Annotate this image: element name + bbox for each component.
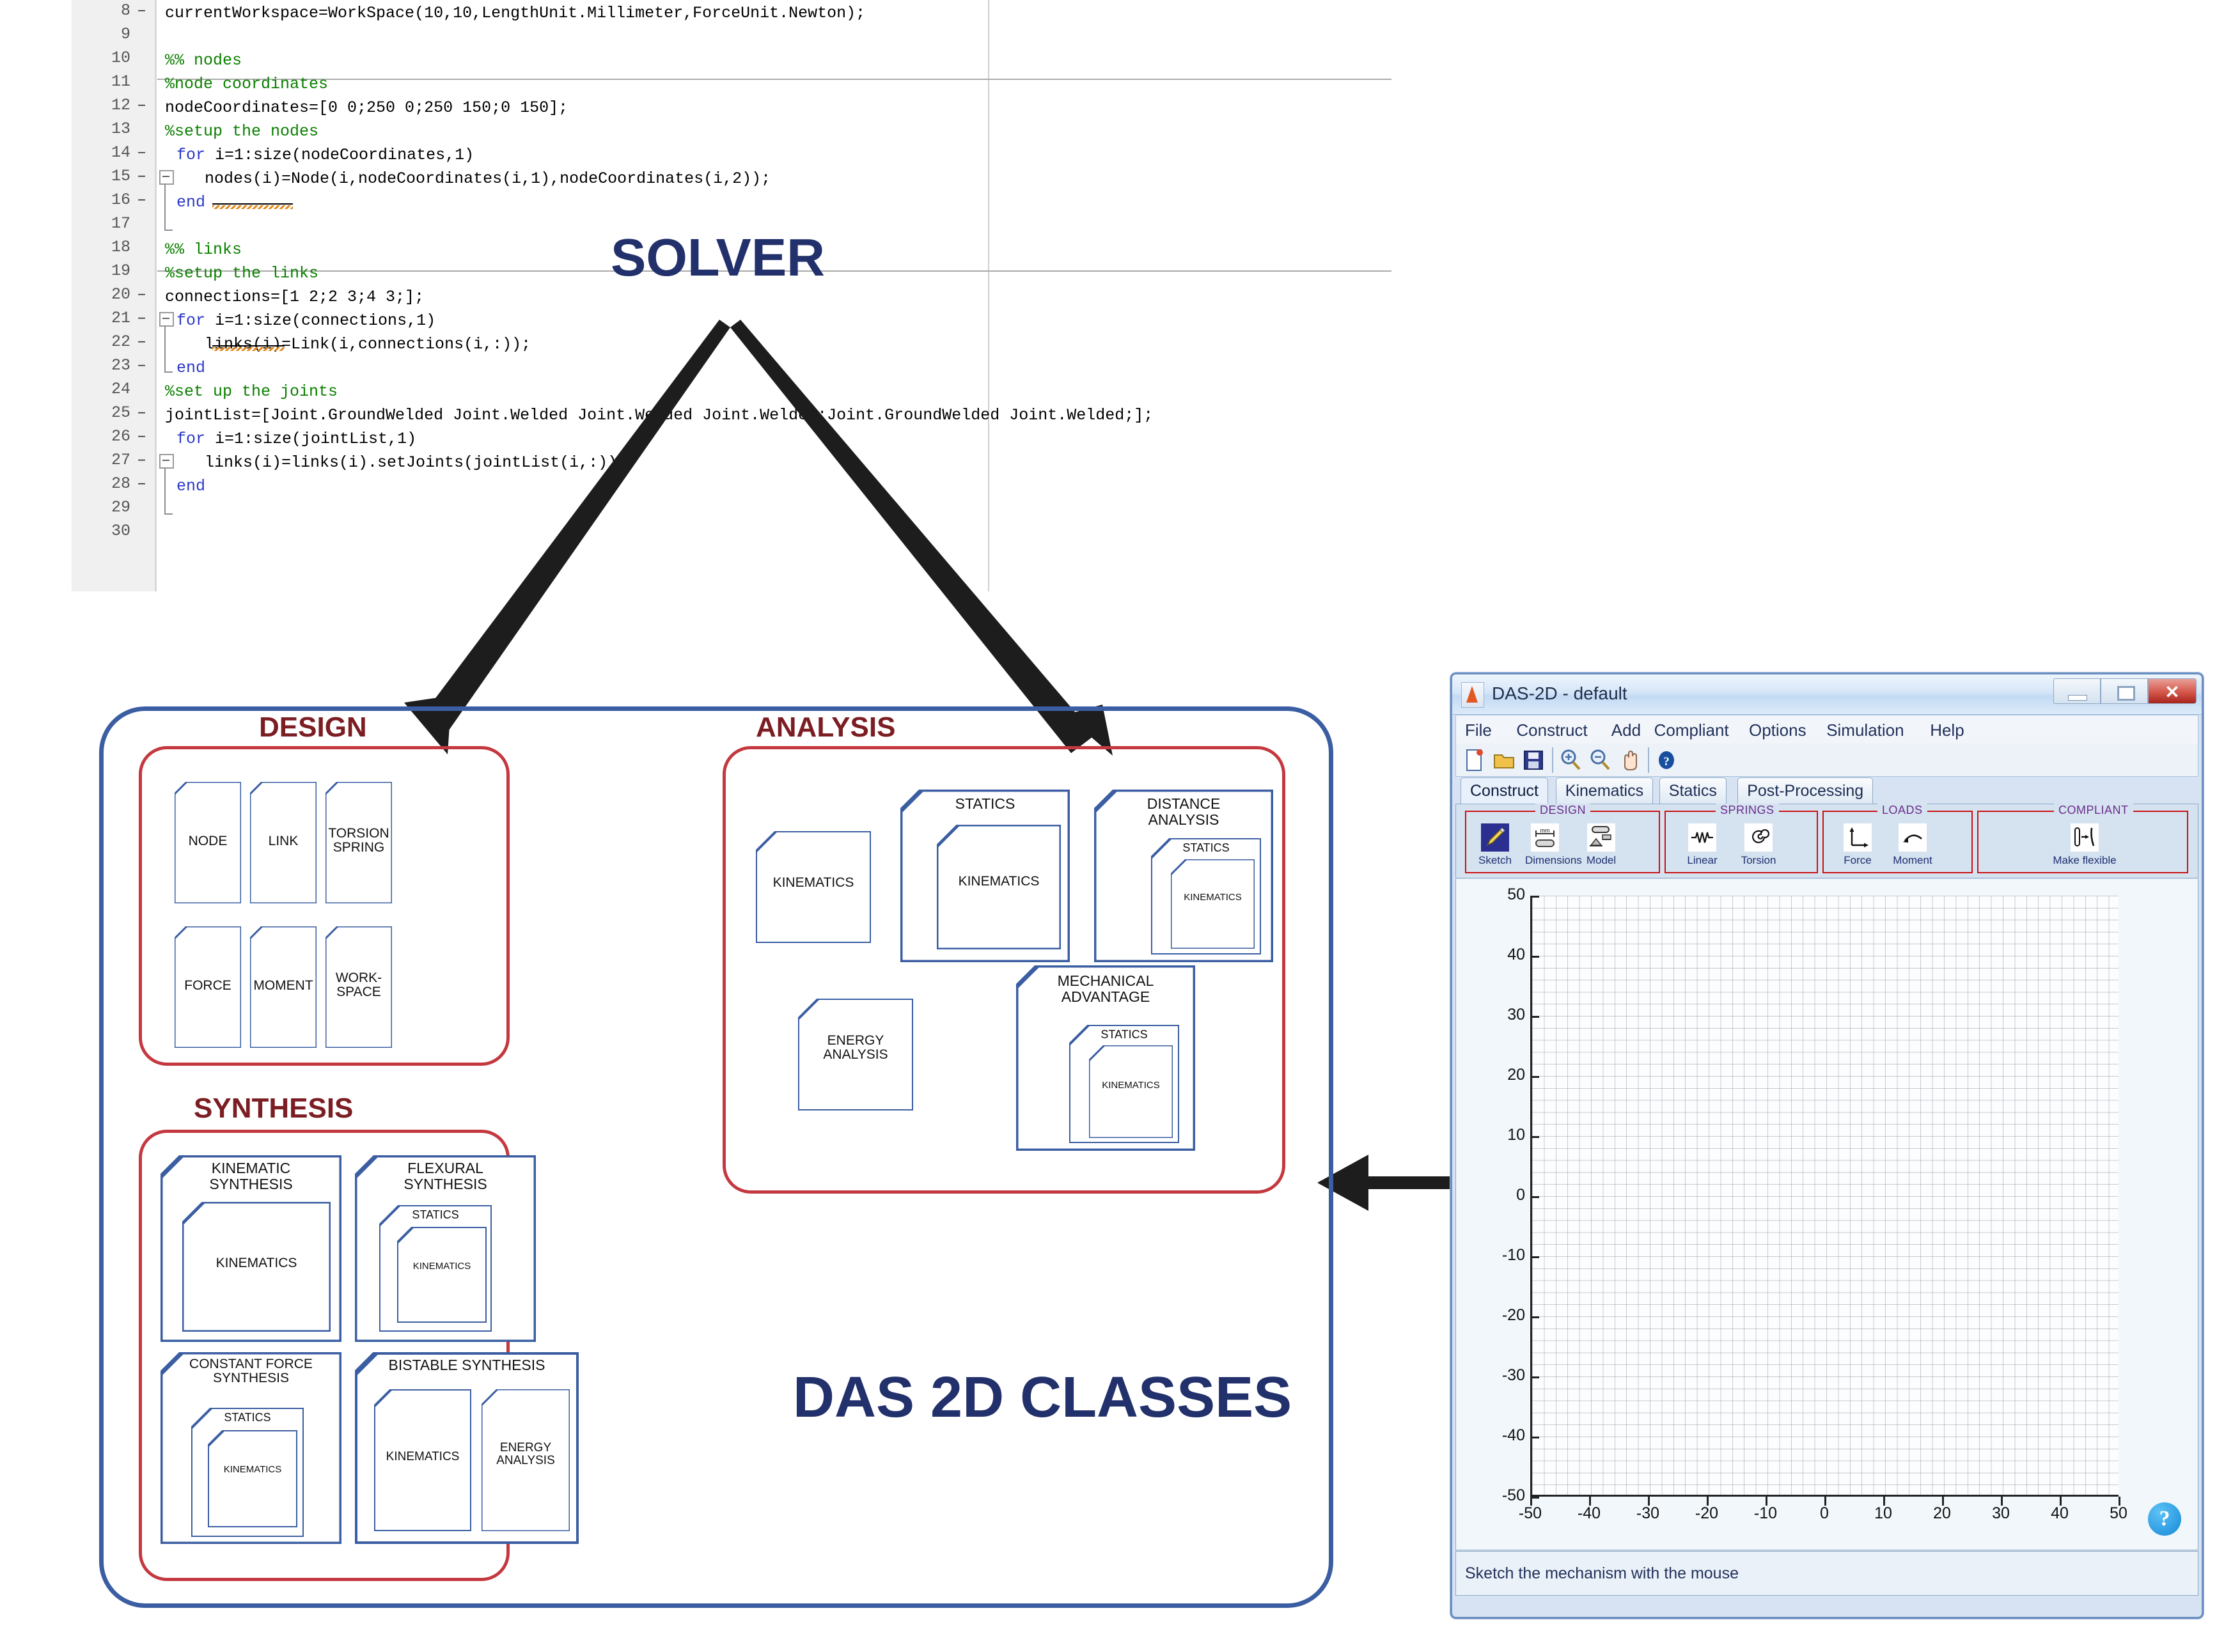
synthesis-group-title: SYNTHESIS <box>194 1093 353 1125</box>
code-line-text[interactable]: links(i)=links(i).setJoints(jointList(i,… <box>205 451 627 474</box>
svg-text:?: ? <box>1663 755 1670 768</box>
tab-post-processing[interactable]: Post-Processing <box>1737 777 1873 804</box>
class-card-label: KINEMATICS <box>182 1256 331 1270</box>
y-axis-tick-label: -20 <box>1468 1306 1525 1325</box>
x-axis-tick-label: 10 <box>1858 1504 1909 1523</box>
class-card-label: KINEMATICS <box>208 1465 297 1475</box>
class-card-label: WORK-SPACE <box>325 971 392 1000</box>
design-group-title: DESIGN <box>259 712 367 744</box>
x-axis-tick-mark <box>1824 1497 1826 1506</box>
class-card-label: STATICS <box>379 1209 492 1221</box>
x-axis-tick-mark <box>2001 1497 2003 1506</box>
x-axis-tick-label: -10 <box>1740 1504 1791 1523</box>
torsion-spring-icon <box>1744 823 1773 852</box>
code-fold-marker[interactable] <box>159 170 174 185</box>
ribbon-button-linear-label: Linear <box>1682 854 1722 867</box>
x-axis-tick-label: 40 <box>2034 1504 2085 1523</box>
y-axis-tick-label: 50 <box>1468 885 1525 904</box>
moment-arc-icon <box>1899 823 1927 852</box>
class-card-kinematics-nested-4: KINEMATICS <box>182 1202 331 1332</box>
ribbon-button-force[interactable]: Force <box>1838 823 1877 867</box>
code-line-text[interactable]: jointList=[Joint.GroundWelded Joint.Weld… <box>165 403 1153 427</box>
pan-hand-icon[interactable] <box>1617 747 1641 773</box>
class-card-label: ENERGYANALYSIS <box>798 1034 913 1063</box>
x-axis-tick-label: 50 <box>2093 1504 2144 1523</box>
x-axis-tick-mark <box>2119 1497 2120 1506</box>
code-line-number: 26 <box>72 427 130 446</box>
x-axis-tick-mark <box>1942 1497 1944 1506</box>
code-line-number: 15 <box>72 167 130 185</box>
class-card-label: KINEMATICS <box>374 1451 471 1463</box>
class-card-kinematics: KINEMATICS <box>756 831 871 943</box>
class-card-work-space: WORK-SPACE <box>325 926 392 1048</box>
close-button[interactable]: ✕ <box>2148 678 2197 704</box>
help-icon[interactable]: ? <box>1654 747 1679 773</box>
class-card-label: MECHANICALADVANTAGE <box>1016 973 1195 1004</box>
code-fold-bar <box>164 325 166 371</box>
executable-line-marker: – <box>137 143 150 162</box>
code-line-text[interactable]: connections=[1 2;2 3;4 3;]; <box>165 285 424 309</box>
code-fold-marker[interactable] <box>159 312 174 327</box>
x-axis-tick-label: -50 <box>1505 1504 1556 1523</box>
class-card-kinematics-nested: KINEMATICS <box>937 825 1061 949</box>
code-fold-foot <box>164 230 173 231</box>
y-axis-tick-label: 0 <box>1468 1186 1525 1204</box>
matlab-app-icon <box>1461 682 1484 708</box>
code-fold-foot <box>164 371 173 373</box>
x-axis-tick-mark <box>2060 1497 2062 1506</box>
x-axis-tick-mark <box>1707 1497 1709 1506</box>
minimize-button[interactable] <box>2053 678 2101 704</box>
y-axis-tick-mark <box>1530 1316 1539 1318</box>
executable-line-marker: – <box>137 451 150 469</box>
code-fold-bar <box>164 183 166 230</box>
ribbon-button-sketch[interactable]: Sketch <box>1475 823 1515 867</box>
new-file-icon[interactable] <box>1462 747 1487 773</box>
executable-line-marker: – <box>137 403 150 422</box>
class-card-label: TORSIONSPRING <box>325 827 392 855</box>
ribbon-button-dimensions[interactable]: mm Dimensions <box>1525 823 1565 867</box>
executable-line-marker: – <box>137 427 150 446</box>
code-line-text[interactable]: %setup the links <box>165 261 318 285</box>
class-card-link: LINK <box>250 782 317 903</box>
tab-construct[interactable]: Construct <box>1461 777 1548 804</box>
variable-underline <box>212 345 285 347</box>
x-axis-tick-label: -30 <box>1622 1504 1673 1523</box>
code-line-text[interactable]: for i=1:size(nodeCoordinates,1) <box>176 143 474 167</box>
code-line-number: 19 <box>72 261 130 280</box>
code-line-number: 12 <box>72 96 130 114</box>
y-axis-tick-label: -50 <box>1468 1486 1525 1505</box>
class-card-energy-analysis-nested: ENERGYANALYSIS <box>482 1389 570 1531</box>
window-title: DAS-2D - default <box>1492 683 1627 704</box>
executable-line-marker: – <box>137 167 150 185</box>
code-line-number: 23 <box>72 356 130 375</box>
lint-squiggle <box>212 347 285 351</box>
code-line-number: 16 <box>72 191 130 209</box>
y-axis-tick-mark <box>1530 1376 1539 1378</box>
y-axis-tick-mark <box>1530 1076 1539 1078</box>
y-axis-tick-mark <box>1530 1016 1539 1018</box>
code-line-number: 9 <box>72 25 130 43</box>
code-line-text[interactable]: end <box>176 191 205 214</box>
matlab-code-editor[interactable]: 8–currentWorkspace=WorkSpace(10,10,Lengt… <box>0 0 1388 591</box>
code-line-number: 21 <box>72 309 130 327</box>
code-fold-foot <box>164 513 173 515</box>
x-axis-tick-mark <box>1530 1497 1532 1506</box>
y-axis-tick-mark <box>1530 1256 1539 1258</box>
ribbon-group-design-title: DESIGN <box>1535 804 1590 817</box>
code-line-number: 17 <box>72 214 130 233</box>
executable-line-marker: – <box>137 1 150 20</box>
ribbon-button-torsion-spring[interactable]: Torsion <box>1739 823 1778 867</box>
class-card-label: KINEMATICS <box>1089 1080 1173 1091</box>
x-axis-tick-mark <box>1883 1497 1885 1506</box>
class-card-label: DISTANCEANALYSIS <box>1094 796 1273 827</box>
code-line-text[interactable]: %setup the nodes <box>165 120 318 143</box>
executable-line-marker: – <box>137 191 150 209</box>
ribbon-button-dimensions-label: Dimensions <box>1525 854 1565 867</box>
executable-line-marker: – <box>137 356 150 375</box>
class-card-energy-analysis: ENERGYANALYSIS <box>798 999 913 1110</box>
tab-kinematics[interactable]: Kinematics <box>1556 777 1653 804</box>
code-line-number: 28 <box>72 474 130 493</box>
class-card-label: CONSTANT FORCESYNTHESIS <box>161 1357 341 1386</box>
x-axis-tick-label: -40 <box>1563 1504 1615 1523</box>
ribbon-button-moment[interactable]: Moment <box>1893 823 1932 867</box>
class-card-kinematics-nested-2: KINEMATICS <box>1171 859 1255 949</box>
code-line-number: 30 <box>72 522 130 540</box>
menu-item-options[interactable]: Options <box>1749 721 1806 740</box>
y-axis-tick-label: 10 <box>1468 1126 1525 1144</box>
x-axis-tick-label: 0 <box>1799 1504 1850 1523</box>
class-card-force: FORCE <box>175 926 241 1048</box>
svg-text:mm: mm <box>1540 827 1550 834</box>
code-fold-marker[interactable] <box>159 454 174 469</box>
class-card-kinematics-nested-5: KINEMATICS <box>397 1227 487 1323</box>
code-line-number: 18 <box>72 238 130 256</box>
executable-line-marker: – <box>137 474 150 493</box>
executable-line-marker: – <box>137 332 150 351</box>
ribbon-group-design: DESIGN Sketch <box>1465 811 1660 873</box>
x-axis-tick-mark <box>1766 1497 1767 1506</box>
variable-underline <box>212 203 293 205</box>
ribbon-button-force-label: Force <box>1838 854 1877 867</box>
y-axis-tick-label: -30 <box>1468 1366 1525 1385</box>
code-line-number: 20 <box>72 285 130 304</box>
ribbon-button-make-flexible-label: Make flexible <box>2040 854 2129 867</box>
code-line-number: 14 <box>72 143 130 162</box>
y-axis-tick-label: 20 <box>1468 1066 1525 1084</box>
menu-item-add[interactable]: Add <box>1611 721 1641 740</box>
das-2d-class-diagram: DESIGN NODELINKTORSIONSPRINGFORCEMOMENTW… <box>99 700 1340 1614</box>
menu-item-compliant[interactable]: Compliant <box>1654 721 1729 740</box>
sketch-canvas-panel[interactable]: -50-40-30-20-1001020304050 -50-40-30-20-… <box>1455 879 2198 1550</box>
class-card-label: KINEMATICS <box>397 1261 487 1272</box>
code-line-text[interactable]: end <box>176 474 205 498</box>
tab-statics[interactable]: Statics <box>1659 777 1727 804</box>
code-line-text[interactable]: %% links <box>165 238 242 261</box>
executable-line-marker: – <box>137 285 150 304</box>
force-arrow-icon <box>1844 823 1872 852</box>
y-axis-tick-mark <box>1530 956 1539 958</box>
ribbon-button-sketch-label: Sketch <box>1475 854 1515 867</box>
code-line-text[interactable]: links(i)=Link(i,connections(i,:)); <box>205 332 531 356</box>
code-line-number: 8 <box>72 1 130 20</box>
class-card-moment: MOMENT <box>250 926 317 1048</box>
code-line-text[interactable]: %% nodes <box>165 49 242 72</box>
y-axis-tick-mark <box>1530 1136 1539 1138</box>
ribbon-group-loads-title: LOADS <box>1877 804 1927 817</box>
class-card-label: BISTABLE SYNTHESIS <box>355 1357 579 1373</box>
class-card-kinematics-nested-7: KINEMATICS <box>374 1389 471 1531</box>
ribbon-group-springs-title: SPRINGS <box>1716 804 1779 817</box>
gutter-separator <box>155 0 157 591</box>
ribbon-panel[interactable]: DESIGN Sketch <box>1455 804 2198 878</box>
code-line-number: 27 <box>72 451 130 469</box>
code-line-text[interactable]: for i=1:size(jointList,1) <box>176 427 416 451</box>
ribbon-group-springs: SPRINGS Linear Torsion <box>1665 811 1818 873</box>
y-axis-tick-mark <box>1530 896 1539 898</box>
code-line-number: 25 <box>72 403 130 422</box>
y-axis-tick-label: -40 <box>1468 1426 1525 1445</box>
zoom-in-icon[interactable] <box>1558 747 1583 773</box>
y-axis-tick-label: 30 <box>1468 1006 1525 1024</box>
ribbon-button-model[interactable]: Model <box>1581 823 1621 867</box>
ribbon-group-loads: LOADS Force <box>1822 811 1973 873</box>
class-card-label: KINEMATICS <box>937 875 1061 889</box>
ribbon-group-compliant: COMPLIANT Make flexible <box>1977 811 2188 873</box>
menu-item-file[interactable]: File <box>1465 721 1492 740</box>
toolbar-separator <box>1552 747 1553 773</box>
executable-line-marker: – <box>137 96 150 114</box>
code-line-text[interactable]: %set up the joints <box>165 380 338 403</box>
cell-divider <box>157 79 1391 80</box>
ribbon-group-compliant-title: COMPLIANT <box>2054 804 2133 817</box>
analysis-group-title: ANALYSIS <box>756 712 895 744</box>
pencil-icon <box>1481 823 1509 852</box>
save-disk-icon[interactable] <box>1521 747 1546 773</box>
class-card-torsion-spring: TORSIONSPRING <box>325 782 392 903</box>
executable-line-marker: – <box>137 309 150 327</box>
class-card-label: NODE <box>175 834 241 848</box>
y-axis-tick-label: 40 <box>1468 946 1525 964</box>
x-axis-tick-mark <box>1648 1497 1650 1506</box>
close-icon: ✕ <box>2149 682 2196 703</box>
code-line-text[interactable]: nodeCoordinates=[0 0;250 0;250 150;0 150… <box>165 96 568 120</box>
mechanism-icon <box>1587 823 1615 852</box>
code-fold-bar <box>164 467 166 513</box>
status-bar-text: Sketch the mechanism with the mouse <box>1465 1564 1739 1583</box>
code-line-number: 13 <box>72 120 130 138</box>
code-line-text[interactable]: nodes(i)=Node(i,nodeCoordinates(i,1),nod… <box>205 167 771 191</box>
code-line-text[interactable]: for i=1:size(connections,1) <box>176 309 435 332</box>
class-card-label: STATICS <box>1069 1029 1179 1041</box>
class-card-label: ENERGYANALYSIS <box>482 1442 570 1468</box>
ruler-icon: mm <box>1531 823 1559 852</box>
open-folder-icon[interactable] <box>1492 747 1516 773</box>
editor-right-margin-rule <box>988 0 989 591</box>
ribbon-button-linear-spring[interactable]: Linear <box>1682 823 1722 867</box>
y-axis-tick-mark <box>1530 1196 1539 1198</box>
class-card-label: LINK <box>250 834 317 848</box>
menu-item-help[interactable]: Help <box>1930 721 1964 740</box>
class-card-label: STATICS <box>900 796 1070 812</box>
linear-spring-icon <box>1688 823 1716 852</box>
class-card-label: STATICS <box>1151 842 1261 854</box>
solver-callout-label: SOLVER <box>611 227 825 288</box>
lint-squiggle <box>212 205 293 209</box>
make-flexible-icon <box>2071 823 2099 852</box>
help-bubble-icon[interactable]: ? <box>2148 1502 2181 1536</box>
class-card-label: STATICS <box>191 1412 304 1424</box>
code-line-number: 24 <box>72 380 130 398</box>
zoom-out-icon[interactable] <box>1588 747 1612 773</box>
class-card-kinematics-nested-6: KINEMATICS <box>208 1430 297 1527</box>
code-line-number: 22 <box>72 332 130 351</box>
code-line-text[interactable]: end <box>176 356 205 380</box>
ribbon-button-make-flexible[interactable]: Make flexible <box>2040 823 2129 867</box>
code-line-number: 11 <box>72 72 130 91</box>
code-line-text[interactable]: currentWorkspace=WorkSpace(10,10,LengthU… <box>165 1 865 25</box>
y-axis-tick-label: -10 <box>1468 1246 1525 1265</box>
ribbon-button-moment-label: Moment <box>1893 854 1932 867</box>
menu-bar[interactable]: FileConstructAddCompliantOptionsSimulati… <box>1455 715 2198 744</box>
class-card-label: KINEMATICS <box>756 876 871 890</box>
sketch-grid[interactable] <box>1530 896 2119 1497</box>
menu-item-simulation[interactable]: Simulation <box>1826 721 1904 740</box>
x-axis-tick-label: -20 <box>1681 1504 1732 1523</box>
class-card-label: FORCE <box>175 979 241 993</box>
ribbon-button-torsion-label: Torsion <box>1739 854 1778 867</box>
das-2d-application-window[interactable]: DAS-2D - default ✕ FileConstructAddCompl… <box>1450 673 2204 1619</box>
ribbon-tabstrip[interactable]: ConstructKinematicsStaticsPost-Processin… <box>1455 777 2198 804</box>
class-card-node: NODE <box>175 782 241 903</box>
code-line-number: 29 <box>72 498 130 517</box>
ribbon-button-model-label: Model <box>1581 854 1621 867</box>
code-line-text[interactable]: %node coordinates <box>165 72 328 96</box>
maximize-button[interactable] <box>2101 678 2148 704</box>
class-card-label: KINEMATICS <box>1171 892 1255 903</box>
toolbar-separator <box>1648 747 1649 773</box>
window-titlebar[interactable]: DAS-2D - default ✕ <box>1452 674 2202 715</box>
code-line-number: 10 <box>72 49 130 67</box>
class-card-label: KINEMATICSYNTHESIS <box>161 1160 341 1192</box>
menu-item-construct[interactable]: Construct <box>1516 721 1587 740</box>
class-card-kinematics-nested-3: KINEMATICS <box>1089 1045 1173 1138</box>
class-card-label: MOMENT <box>250 979 317 993</box>
y-axis-tick-mark <box>1530 1437 1539 1438</box>
toolbar[interactable]: ? <box>1455 744 2198 777</box>
status-bar: Sketch the mechanism with the mouse <box>1455 1551 2198 1596</box>
x-axis-tick-mark <box>1589 1497 1591 1506</box>
x-axis-tick-label: 20 <box>1916 1504 1968 1523</box>
x-axis-tick-label: 30 <box>1975 1504 2026 1523</box>
class-card-label: FLEXURALSYNTHESIS <box>355 1160 536 1192</box>
